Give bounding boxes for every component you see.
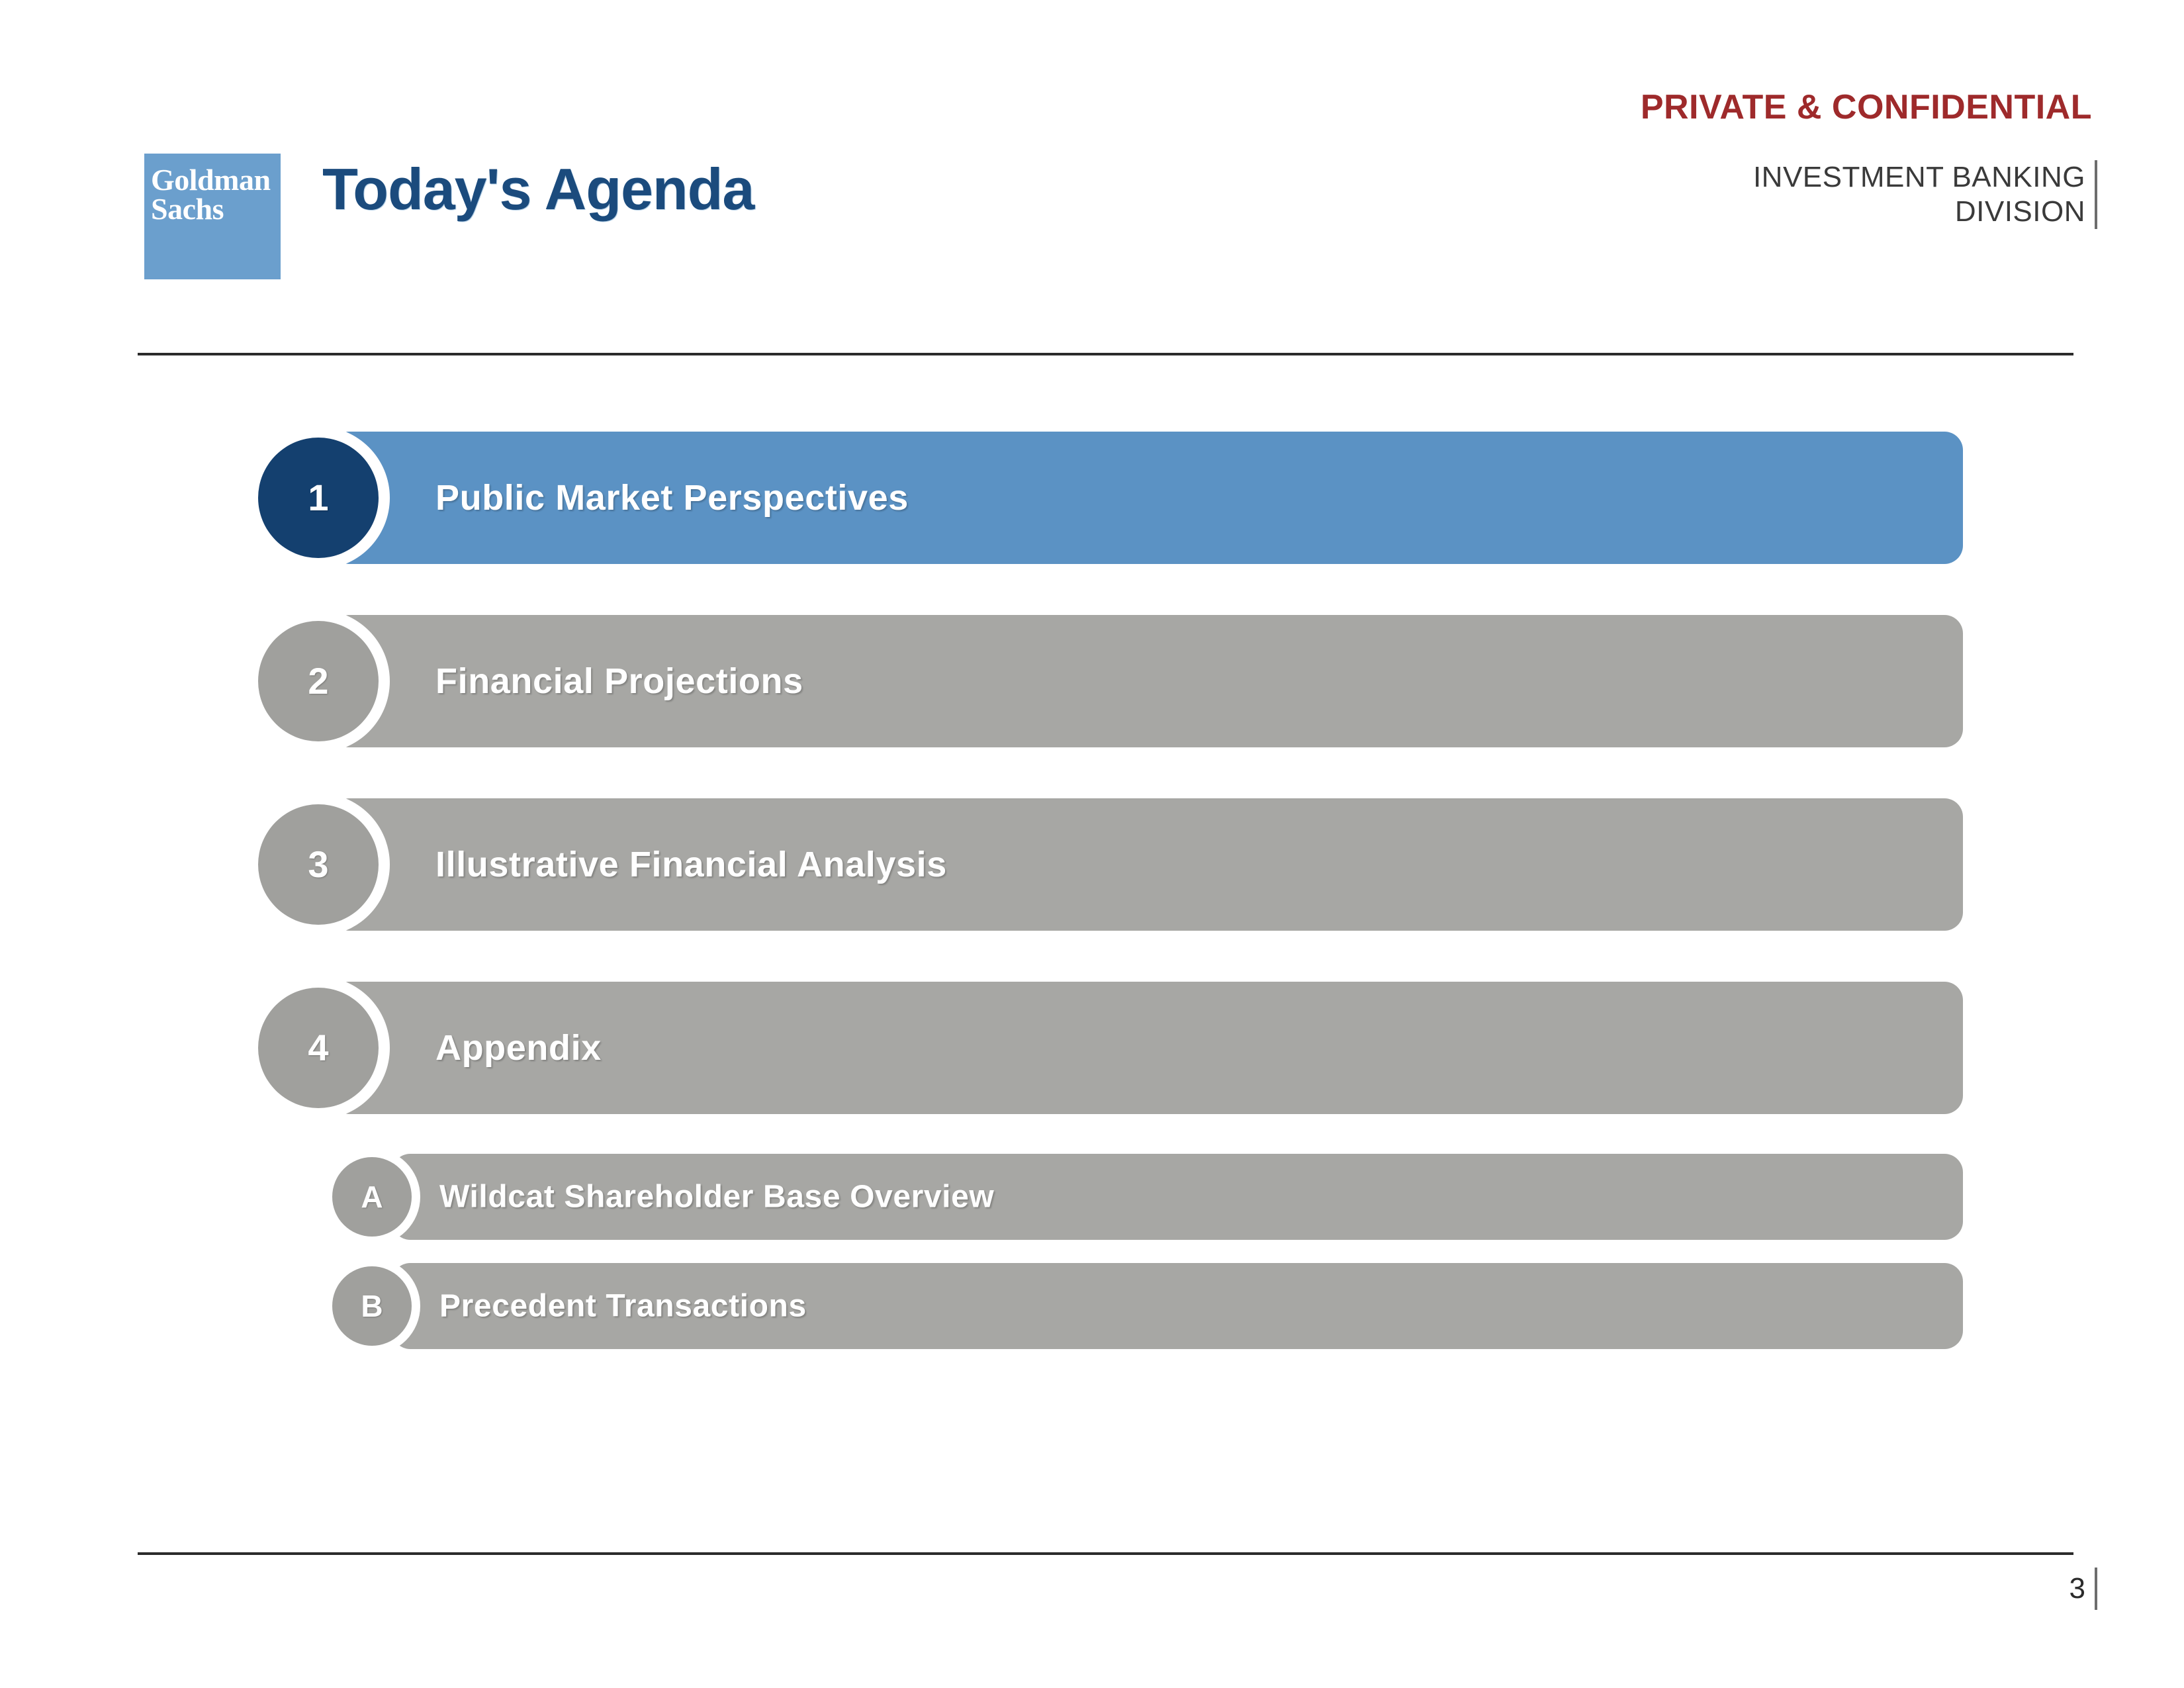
agenda-bar[interactable]: Illustrative Financial Analysis xyxy=(331,798,1963,931)
agenda-marker-circle[interactable]: A xyxy=(332,1157,412,1237)
agenda-marker-label: 1 xyxy=(308,479,328,516)
agenda-bar[interactable]: Public Market Perspectives xyxy=(331,432,1963,564)
agenda-item-1[interactable]: Public Market Perspectives1 xyxy=(0,432,2184,564)
agenda-bar[interactable]: Appendix xyxy=(331,982,1963,1114)
agenda-marker-label: A xyxy=(361,1182,383,1212)
agenda-item-a[interactable]: Wildcat Shareholder Base OverviewA xyxy=(0,1154,2184,1240)
agenda-bar[interactable]: Financial Projections xyxy=(331,615,1963,747)
agenda-marker-circle[interactable]: 4 xyxy=(258,988,379,1108)
agenda-marker-label: 2 xyxy=(308,663,328,700)
agenda-item-label: Precedent Transactions xyxy=(439,1288,807,1325)
agenda-marker-circle[interactable]: 3 xyxy=(258,804,379,925)
agenda-item-b[interactable]: Precedent TransactionsB xyxy=(0,1263,2184,1349)
agenda-item-4[interactable]: Appendix4 xyxy=(0,982,2184,1114)
agenda-marker-circle[interactable]: 1 xyxy=(258,438,379,558)
page-number-container: 3 xyxy=(2070,1568,2097,1610)
agenda-marker-circle[interactable]: B xyxy=(332,1266,412,1346)
agenda-item-label: Illustrative Financial Analysis xyxy=(435,844,947,885)
agenda-list: Public Market Perspectives1Financial Pro… xyxy=(0,0,2184,1688)
agenda-item-label: Wildcat Shareholder Base Overview xyxy=(439,1179,994,1215)
agenda-item-label: Public Market Perspectives xyxy=(435,477,909,518)
agenda-marker-label: 3 xyxy=(308,846,328,883)
agenda-marker-circle[interactable]: 2 xyxy=(258,621,379,741)
agenda-bar[interactable]: Wildcat Shareholder Base Overview xyxy=(392,1154,1963,1240)
agenda-marker-label: 4 xyxy=(308,1029,328,1066)
page-number: 3 xyxy=(2070,1574,2085,1603)
agenda-item-label: Appendix xyxy=(435,1027,602,1068)
agenda-marker-label: B xyxy=(361,1291,383,1321)
agenda-item-2[interactable]: Financial Projections2 xyxy=(0,615,2184,747)
agenda-item-label: Financial Projections xyxy=(435,661,803,702)
footer-divider xyxy=(138,1552,2073,1555)
agenda-item-3[interactable]: Illustrative Financial Analysis3 xyxy=(0,798,2184,931)
agenda-bar[interactable]: Precedent Transactions xyxy=(392,1263,1963,1349)
